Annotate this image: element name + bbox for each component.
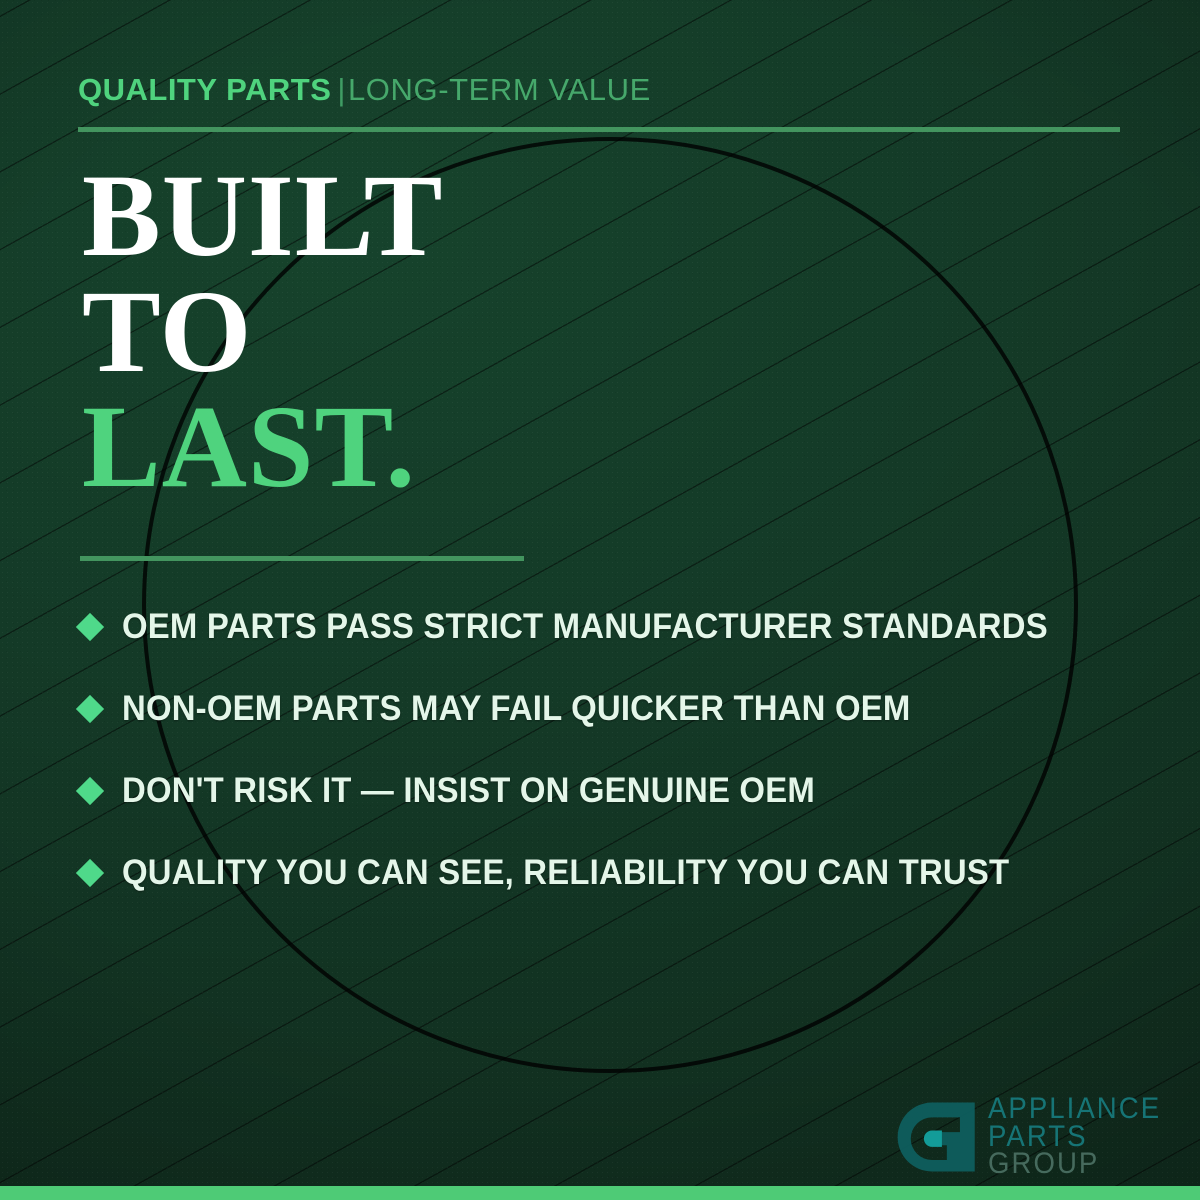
brand-line-group: GROUP [988,1150,1161,1178]
brand-line-parts: PARTS [988,1123,1161,1151]
promo-poster: QUALITY PARTS|LONG-TERM VALUE BUILT TO L… [0,0,1200,1200]
brand-line-appliance: APPLIANCE [988,1095,1161,1123]
diamond-bullet-icon [76,859,104,887]
top-divider-rule [78,127,1120,132]
list-item-label: NON-OEM PARTS MAY FAIL QUICKER THAN OEM [122,689,910,729]
eyebrow: QUALITY PARTS|LONG-TERM VALUE [78,74,651,105]
brand-logo: APPLIANCE PARTS GROUP [896,1095,1176,1178]
eyebrow-separator: | [331,72,348,107]
list-item-label: QUALITY YOU CAN SEE, RELIABILITY YOU CAN… [122,853,1009,893]
list-item: NON-OEM PARTS MAY FAIL QUICKER THAN OEM [80,668,1150,750]
benefits-list: OEM PARTS PASS STRICT MANUFACTURER STAND… [80,586,1150,914]
list-item-label: DON'T RISK IT — INSIST ON GENUINE OEM [122,771,815,811]
eyebrow-light-text: LONG-TERM VALUE [348,72,651,107]
eyebrow-strong-text: QUALITY PARTS [78,72,331,107]
brand-wordmark: APPLIANCE PARTS GROUP [988,1095,1176,1178]
bottom-accent-bar [0,1186,1200,1200]
headline-line-3: LAST. [82,389,443,505]
headline-line-1: BUILT [82,158,443,274]
list-item: OEM PARTS PASS STRICT MANUFACTURER STAND… [80,586,1150,668]
list-item-label: OEM PARTS PASS STRICT MANUFACTURER STAND… [122,607,1048,647]
diamond-bullet-icon [76,777,104,805]
list-item: DON'T RISK IT — INSIST ON GENUINE OEM [80,750,1150,832]
g-monogram-icon [896,1096,978,1178]
diamond-bullet-icon [76,695,104,723]
diamond-bullet-icon [76,613,104,641]
page-title: BUILT TO LAST. [82,158,443,505]
poster-content: QUALITY PARTS|LONG-TERM VALUE BUILT TO L… [0,0,1200,1200]
headline-divider-rule [80,556,524,561]
list-item: QUALITY YOU CAN SEE, RELIABILITY YOU CAN… [80,832,1150,914]
headline-line-2: TO [82,274,443,390]
